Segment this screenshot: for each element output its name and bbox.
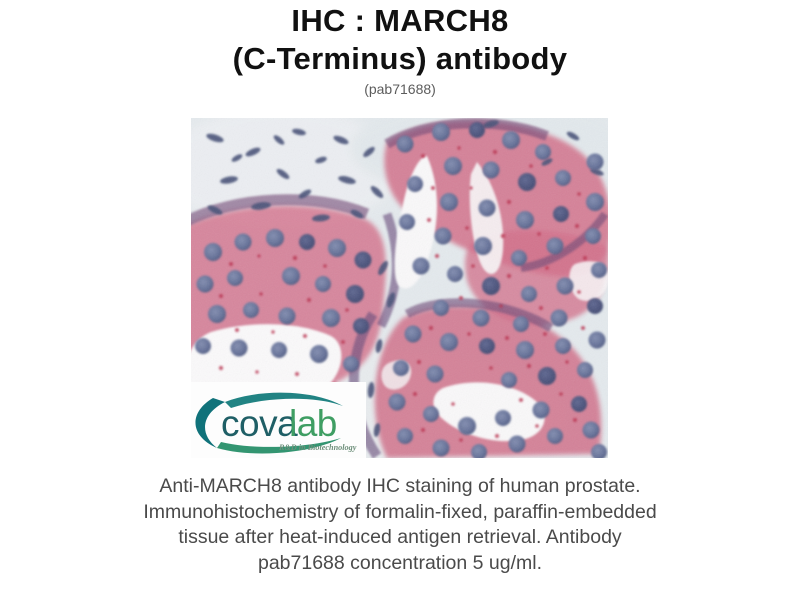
caption-line-1: Anti-MARCH8 antibody IHC staining of hum… [70,474,730,500]
catalog-number: (pab71688) [0,79,800,99]
caption-line-3: tissue after heat-induced antigen retrie… [70,525,730,551]
logo-tagline: R&D in Biotechnology [278,443,357,452]
covalab-logo-panel: cova lab R&D in Biotechnology [191,382,366,458]
figure-page: IHC : MARCH8 (C-Terminus) antibody (pab7… [0,0,800,600]
figure-caption: Anti-MARCH8 antibody IHC staining of hum… [70,474,730,576]
caption-line-2: Immunohistochemistry of formalin-fixed, … [70,500,730,526]
title-line-2: (C-Terminus) antibody [0,40,800,78]
logo-wordmark-part2: lab [289,403,337,444]
page-title: IHC : MARCH8 (C-Terminus) antibody (pab7… [0,2,800,99]
ihc-micrograph: cova lab R&D in Biotechnology [191,118,608,458]
logo-wordmark-part1: cova [221,403,298,444]
title-line-1: IHC : MARCH8 [0,2,800,40]
covalab-logo: cova lab R&D in Biotechnology [191,382,366,458]
caption-line-4: pab71688 concentration 5 ug/ml. [70,551,730,577]
